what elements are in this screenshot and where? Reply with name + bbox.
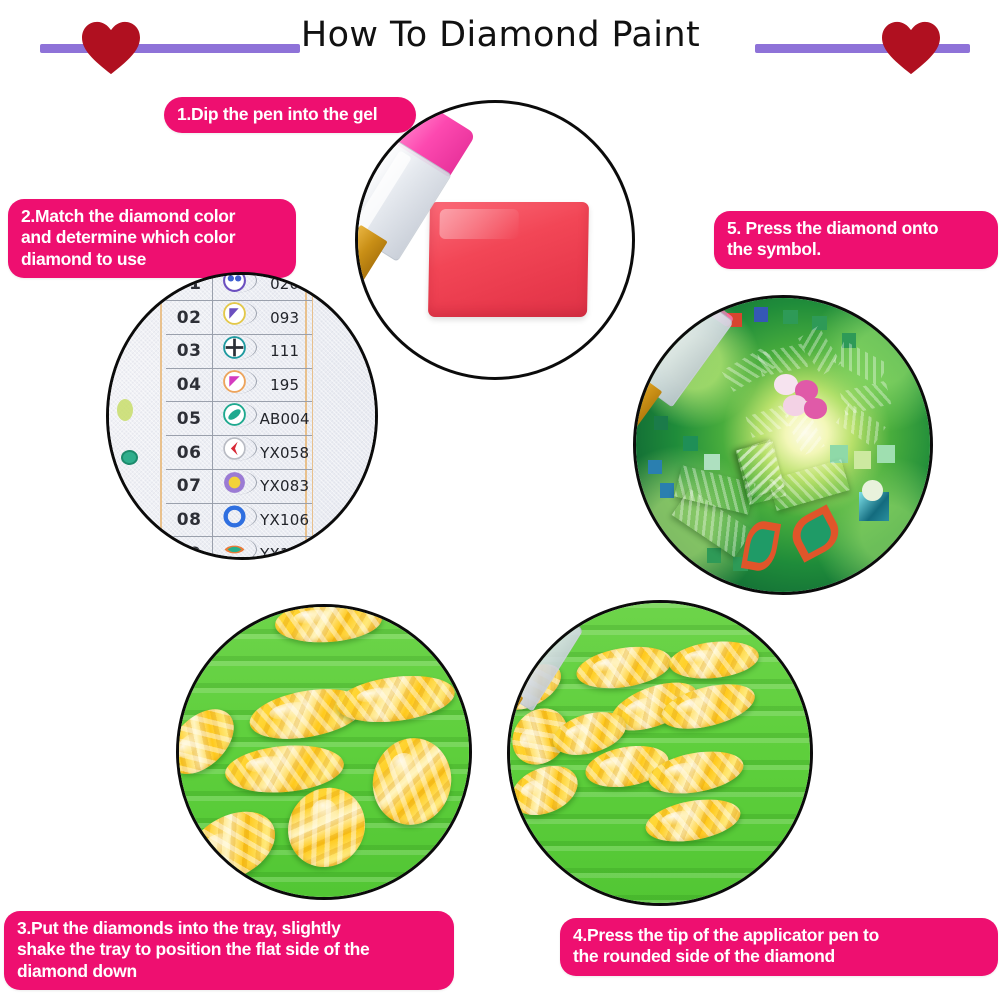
chart-number: 05 bbox=[166, 402, 213, 435]
mandala-canvas-image bbox=[636, 298, 930, 592]
round-rhinestone bbox=[754, 307, 769, 322]
step-4-photo bbox=[507, 600, 813, 906]
page-title: How To Diamond Paint bbox=[0, 16, 1001, 55]
color-chart-table: 01 020 02 093 bbox=[166, 272, 312, 560]
step-2-photo: 01 020 02 093 bbox=[106, 272, 378, 560]
step-5-photo bbox=[633, 295, 933, 595]
table-row: 09 YX125 bbox=[166, 537, 312, 560]
chart-symbol-cell bbox=[213, 335, 257, 360]
round-rhinestone bbox=[862, 480, 883, 501]
step-3-label: 3.Put the diamonds into the tray, slight… bbox=[4, 911, 454, 990]
yellow-marquise-diamond bbox=[176, 798, 286, 895]
chart-symbol-cell bbox=[213, 369, 257, 394]
teal-oval-icon bbox=[222, 402, 247, 427]
chart-code: YX083 bbox=[257, 470, 313, 503]
orange-leaf-icon bbox=[222, 537, 247, 560]
chart-symbol-cell bbox=[213, 402, 257, 427]
chart-number: 01 bbox=[166, 272, 213, 300]
canvas-dot bbox=[121, 450, 138, 465]
chart-number: 02 bbox=[166, 301, 213, 334]
chart-code: 111 bbox=[257, 335, 313, 368]
yellow-marquise-diamond bbox=[365, 730, 460, 831]
chart-code: YX125 bbox=[257, 537, 313, 560]
chart-code: YX106 bbox=[257, 504, 313, 537]
triangle-wedge-icon bbox=[222, 301, 247, 326]
chart-symbol-cell bbox=[213, 537, 257, 560]
table-row: 03 111 bbox=[166, 335, 312, 369]
red-chevron-icon bbox=[222, 436, 247, 461]
step-4-label: 4.Press the tip of the applicator pen to… bbox=[560, 918, 998, 976]
round-rhinestone bbox=[660, 483, 675, 498]
plus-cross-icon bbox=[222, 335, 247, 360]
step-3-photo bbox=[176, 604, 472, 900]
table-row: 05 AB004 bbox=[166, 402, 312, 436]
chart-number: 08 bbox=[166, 504, 213, 537]
round-rhinestone bbox=[854, 451, 872, 469]
chart-symbol-cell bbox=[213, 301, 257, 326]
diamond-tray-image bbox=[179, 607, 469, 897]
canvas-dot bbox=[117, 399, 133, 421]
pen-dipping-into-gel-image bbox=[358, 103, 632, 377]
circle-two-dots-icon bbox=[222, 272, 247, 293]
leaf-inner bbox=[747, 528, 775, 565]
chart-number: 07 bbox=[166, 470, 213, 503]
step-2-label: 2.Match the diamond color and determine … bbox=[8, 199, 296, 278]
chart-code: 195 bbox=[257, 369, 313, 402]
poster-canvas: How To Diamond Paint 1.Dip the pen into … bbox=[0, 0, 1001, 1001]
chart-symbol-cell bbox=[213, 272, 257, 293]
chart-code: YX058 bbox=[257, 436, 313, 469]
step-1-photo bbox=[355, 100, 635, 380]
round-rhinestone bbox=[877, 445, 895, 463]
chart-code: 020 bbox=[257, 272, 313, 300]
color-chart-paper: 01 020 02 093 bbox=[109, 275, 375, 557]
chart-number: 09 bbox=[166, 537, 213, 560]
leaf-inner bbox=[795, 513, 836, 553]
pen-picking-diamond-image bbox=[510, 603, 810, 903]
rosette-petal bbox=[783, 395, 807, 416]
table-row: 08 YX106 bbox=[166, 504, 312, 538]
round-rhinestone bbox=[707, 548, 722, 563]
table-row: 02 093 bbox=[166, 301, 312, 335]
chart-number: 06 bbox=[166, 436, 213, 469]
chart-number: 04 bbox=[166, 369, 213, 402]
table-row: 06 YX058 bbox=[166, 436, 312, 470]
magenta-wedge-icon bbox=[222, 369, 247, 394]
rosette-petal bbox=[804, 398, 828, 419]
chart-number: 03 bbox=[166, 335, 213, 368]
round-rhinestone bbox=[704, 454, 720, 470]
table-row: 04 195 bbox=[166, 369, 312, 403]
yellow-marquise-diamond bbox=[333, 670, 456, 728]
chart-code: 093 bbox=[257, 301, 313, 334]
margin-rule bbox=[160, 275, 162, 557]
step-5-label: 5. Press the diamond onto the symbol. bbox=[714, 211, 998, 269]
chart-code: AB004 bbox=[257, 402, 313, 435]
chart-symbol-cell bbox=[213, 504, 257, 529]
chart-symbol-cell bbox=[213, 470, 257, 495]
yellow-marquise-diamond bbox=[273, 604, 383, 645]
blue-ring-icon bbox=[222, 504, 247, 529]
table-row: 07 YX083 bbox=[166, 470, 312, 504]
round-rhinestone bbox=[683, 436, 698, 451]
chart-symbol-cell bbox=[213, 436, 257, 461]
yellow-dot-in-purple-icon bbox=[222, 470, 247, 495]
round-rhinestone bbox=[783, 310, 798, 325]
poster-header: How To Diamond Paint bbox=[0, 0, 1001, 88]
yellow-marquise-diamond bbox=[642, 793, 743, 848]
yellow-marquise-diamond bbox=[667, 637, 760, 682]
table-row: 01 020 bbox=[166, 272, 312, 301]
